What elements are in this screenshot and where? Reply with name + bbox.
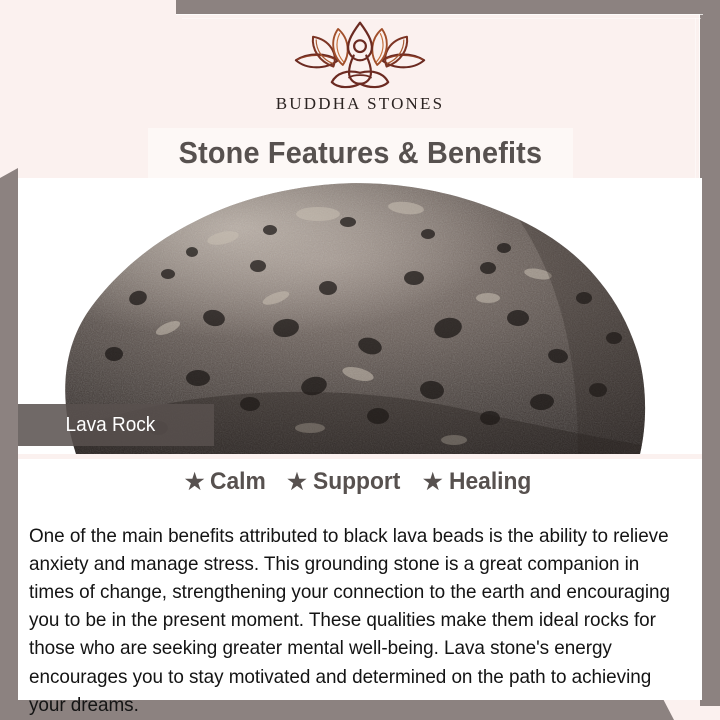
- frame-left-bar: [0, 178, 18, 702]
- star-icon: ★: [423, 471, 443, 493]
- benefit-label: Healing: [449, 468, 531, 496]
- brand-logo: BUDDHA STONES: [0, 18, 720, 128]
- photo-caption-label: Lava Rock: [18, 414, 155, 437]
- frame-right-bevel: [700, 692, 720, 706]
- description-paragraph: One of the main benefits attributed to b…: [29, 522, 675, 719]
- brand-name: BUDDHA STONES: [276, 94, 445, 114]
- page-title: Stone Features & Benefits: [179, 135, 543, 171]
- benefit-item: ★ Support: [287, 468, 405, 496]
- benefit-item: ★ Healing: [423, 468, 535, 496]
- panel-top-strip: [18, 454, 702, 459]
- benefit-item: ★ Calm: [185, 468, 269, 496]
- star-icon: ★: [185, 471, 205, 493]
- frame-top-bar: [176, 0, 720, 14]
- title-banner: Stone Features & Benefits: [148, 128, 573, 178]
- benefits-row: ★ Calm ★ Support ★ Healing: [18, 464, 702, 500]
- benefit-label: Calm: [210, 468, 266, 496]
- star-icon: ★: [287, 471, 307, 493]
- frame-hairline-top: [176, 14, 703, 15]
- photo-caption: Lava Rock: [18, 404, 214, 446]
- lotus-meditation-icon: [280, 18, 440, 90]
- benefit-label: Support: [313, 468, 400, 496]
- infographic-page: BUDDHA STONES Stone Features & Benefits: [0, 0, 720, 720]
